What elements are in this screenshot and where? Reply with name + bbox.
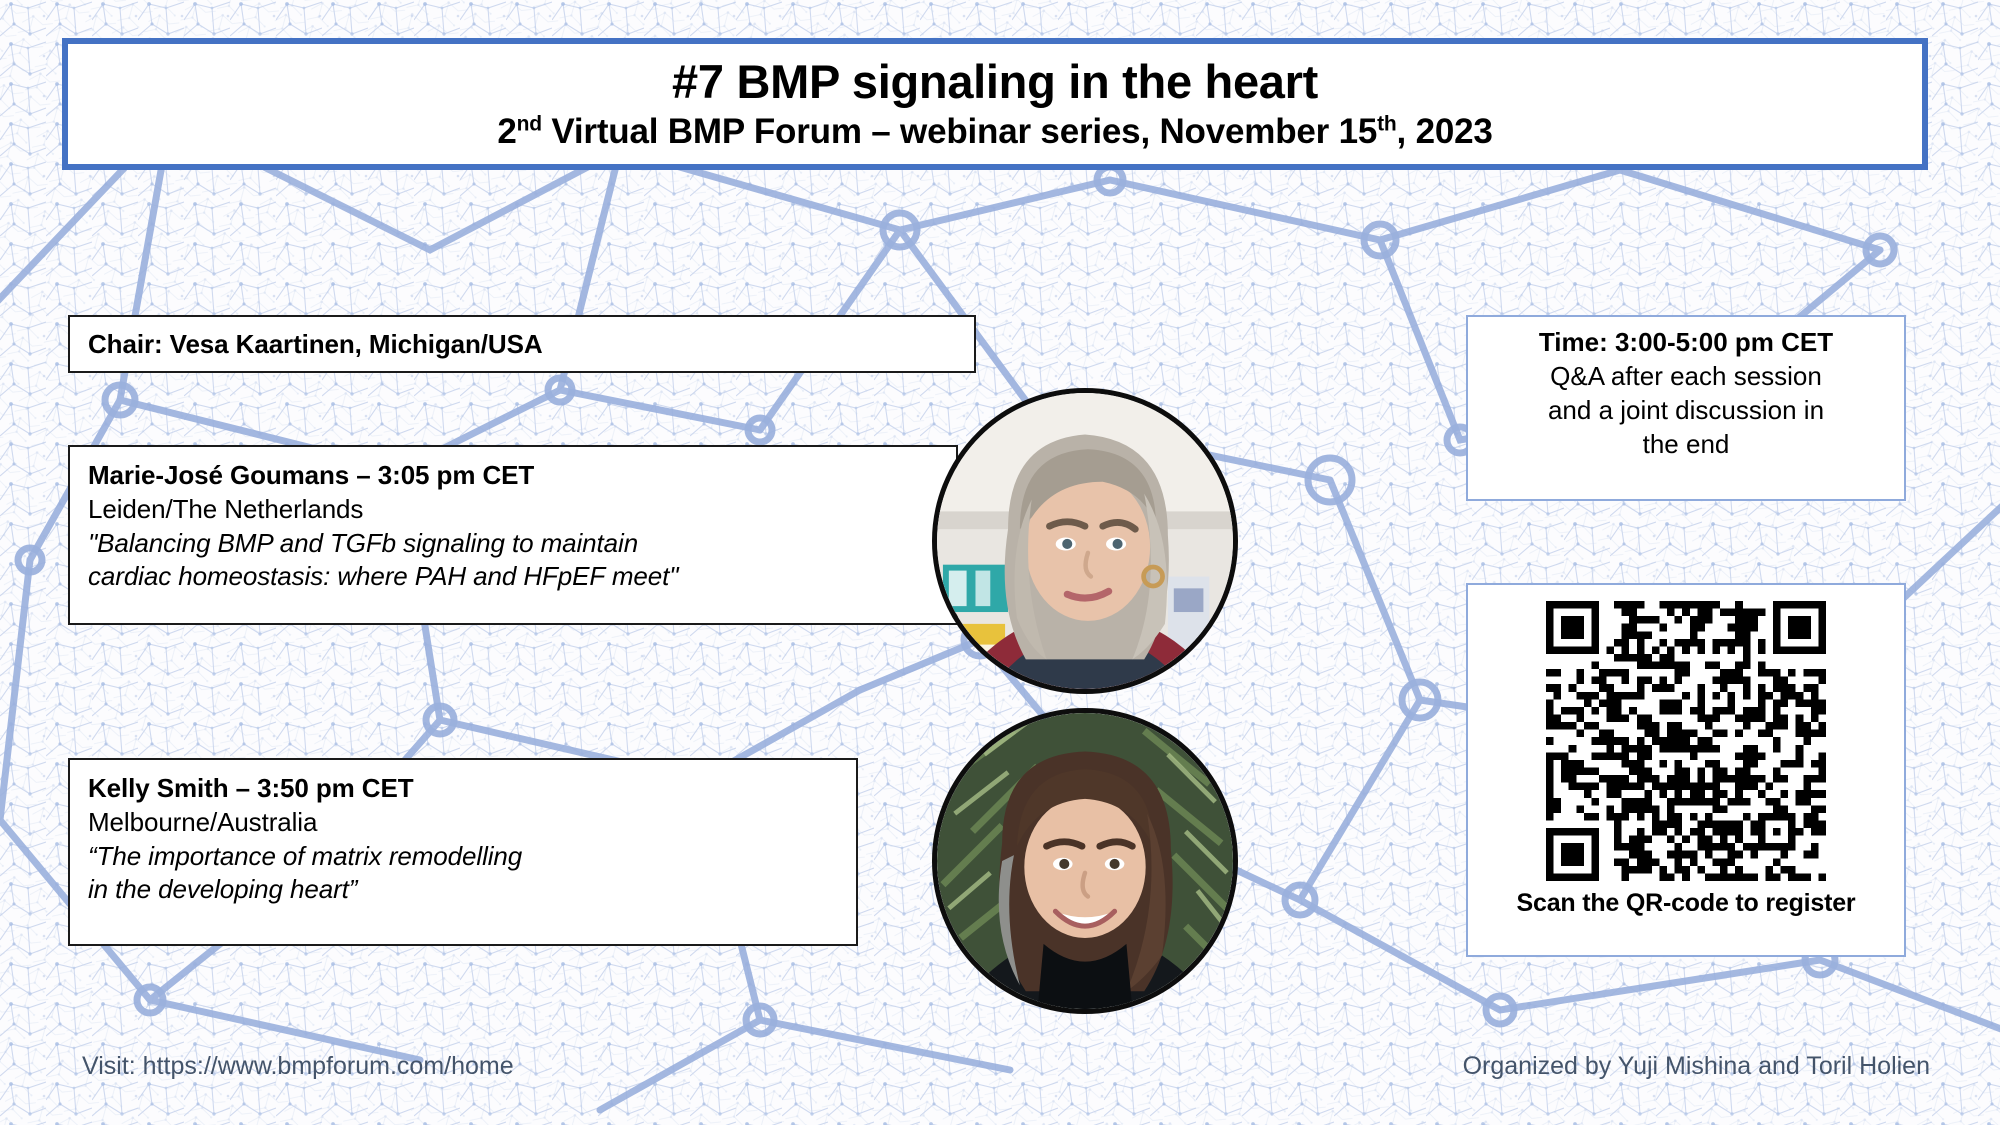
visit-link[interactable]: Visit: https://www.bmpforum.com/home [82,1052,514,1081]
page-title: #7 BMP signaling in the heart [672,56,1318,109]
speaker-1-name: Marie-José Goumans – 3:05 pm CET [88,459,956,493]
time-detail-line-3: the end [1478,427,1894,461]
title-banner: #7 BMP signaling in the heart 2nd Virtua… [62,38,1928,170]
time-panel: Time: 3:00-5:00 pm CET Q&A after each se… [1466,315,1906,501]
speaker-1-talk-line-1: "Balancing BMP and TGFb signaling to mai… [88,527,956,561]
subtitle-part-3: , 2023 [1397,112,1493,151]
speaker-2-talk-line-2: in the developing heart” [88,873,856,907]
qr-panel: Scan the QR-code to register [1466,583,1906,957]
speaker-1-portrait [932,388,1238,694]
time-detail-line-2: and a joint discussion in [1478,393,1894,427]
qr-caption: Scan the QR-code to register [1517,889,1856,918]
page-subtitle: 2nd Virtual BMP Forum – webinar series, … [497,112,1492,152]
time-detail-line-1: Q&A after each session [1478,359,1894,393]
subtitle-ordinal-2: th [1377,112,1396,135]
subtitle-part-2: Virtual BMP Forum – webinar series, Nove… [542,112,1377,151]
speaker-2-name: Kelly Smith – 3:50 pm CET [88,772,856,806]
webinar-poster: #7 BMP signaling in the heart 2nd Virtua… [0,0,2000,1125]
speaker-2-talk-line-1: “The importance of matrix remodelling [88,840,856,874]
speaker-card-1: Marie-José Goumans – 3:05 pm CET Leiden/… [68,445,958,625]
speaker-2-portrait [932,708,1238,1014]
chair-box: Chair: Vesa Kaartinen, Michigan/USA [68,315,976,373]
subtitle-ordinal-1: nd [517,112,542,135]
speaker-card-2: Kelly Smith – 3:50 pm CET Melbourne/Aust… [68,758,858,946]
speaker-1-talk-line-2: cardiac homeostasis: where PAH and HFpEF… [88,560,956,594]
qr-code-icon[interactable] [1546,601,1826,881]
time-heading: Time: 3:00-5:00 pm CET [1478,325,1894,359]
subtitle-part-1: 2 [497,112,516,151]
chair-label: Chair: Vesa Kaartinen, Michigan/USA [70,329,543,360]
speaker-2-affiliation: Melbourne/Australia [88,806,856,840]
organizers-label: Organized by Yuji Mishina and Toril Holi… [1463,1052,1930,1081]
speaker-1-affiliation: Leiden/The Netherlands [88,493,956,527]
